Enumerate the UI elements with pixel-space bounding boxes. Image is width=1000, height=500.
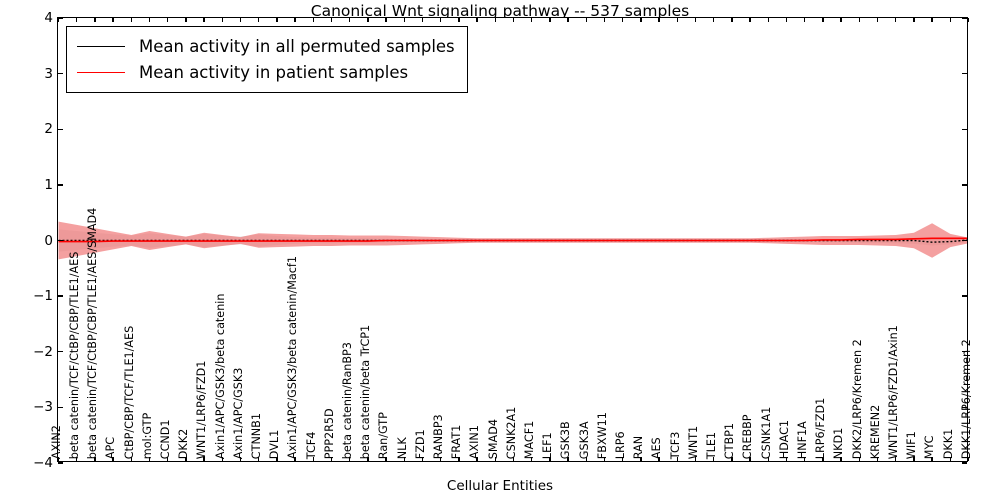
- x-tick-mark: [458, 457, 459, 461]
- legend-label: Mean activity in all permuted samples: [139, 37, 455, 56]
- x-tick-mark: [804, 18, 805, 22]
- y-tick-mark: [58, 462, 63, 463]
- x-tick-mark: [549, 18, 550, 22]
- x-tick-mark: [931, 457, 932, 461]
- chart-legend: Mean activity in all permuted samples Me…: [66, 26, 468, 93]
- x-tick-mark: [203, 457, 204, 461]
- y-tick-mark: [58, 351, 63, 352]
- x-tick-mark: [440, 457, 441, 461]
- y-tick-label: 0: [44, 233, 53, 249]
- legend-label: Mean activity in patient samples: [139, 63, 408, 82]
- y-tick-label: −3: [33, 399, 53, 415]
- x-tick-mark: [404, 18, 405, 22]
- x-axis-label: Cellular Entities: [0, 478, 1000, 494]
- x-tick-mark: [149, 18, 150, 22]
- y-tick-mark: [58, 184, 63, 185]
- x-tick-mark: [167, 18, 168, 22]
- x-tick-mark: [167, 457, 168, 461]
- y-tick-mark: [58, 295, 63, 296]
- x-tick-mark: [131, 457, 132, 461]
- y-tick-label: 4: [44, 10, 53, 26]
- x-tick-mark: [222, 457, 223, 461]
- x-tick-mark: [258, 457, 259, 461]
- y-tick-mark: [58, 73, 63, 74]
- x-tick-mark: [913, 457, 914, 461]
- x-tick-mark: [695, 18, 696, 22]
- x-tick-mark: [877, 18, 878, 22]
- y-tick-label: −1: [33, 288, 53, 304]
- x-tick-mark: [331, 457, 332, 461]
- x-tick-mark: [768, 18, 769, 22]
- x-tick-mark: [58, 18, 59, 22]
- x-tick-mark: [822, 457, 823, 461]
- x-tick-mark: [622, 457, 623, 461]
- x-tick-mark: [950, 457, 951, 461]
- x-tick-mark: [294, 457, 295, 461]
- x-tick-mark: [786, 18, 787, 22]
- x-tick-mark: [440, 18, 441, 22]
- x-tick-mark: [677, 18, 678, 22]
- x-tick-mark: [476, 457, 477, 461]
- legend-item: Mean activity in patient samples: [77, 59, 455, 85]
- x-tick-mark: [367, 457, 368, 461]
- x-tick-mark: [531, 18, 532, 22]
- x-tick-mark: [294, 18, 295, 22]
- x-tick-mark: [112, 18, 113, 22]
- x-tick-mark: [531, 457, 532, 461]
- x-tick-mark: [367, 18, 368, 22]
- x-tick-mark: [495, 18, 496, 22]
- x-tick-mark: [513, 457, 514, 461]
- x-tick-mark: [968, 457, 969, 461]
- x-tick-mark: [185, 18, 186, 22]
- x-tick-mark: [404, 457, 405, 461]
- x-tick-mark: [549, 457, 550, 461]
- x-tick-mark: [895, 18, 896, 22]
- x-tick-mark: [76, 18, 77, 22]
- x-tick-mark: [859, 457, 860, 461]
- x-tick-mark: [640, 18, 641, 22]
- x-tick-mark: [476, 18, 477, 22]
- x-tick-mark: [567, 18, 568, 22]
- x-tick-mark: [313, 18, 314, 22]
- x-tick-mark: [240, 457, 241, 461]
- x-tick-mark: [513, 18, 514, 22]
- x-tick-mark: [604, 18, 605, 22]
- x-tick-mark: [968, 18, 969, 22]
- x-tick-mark: [313, 457, 314, 461]
- x-tick-mark: [786, 457, 787, 461]
- x-tick-mark: [913, 18, 914, 22]
- x-tick-mark: [131, 18, 132, 22]
- x-tick-mark: [677, 457, 678, 461]
- y-tick-label: 2: [44, 121, 53, 137]
- x-tick-mark: [349, 18, 350, 22]
- y-tick-mark: [962, 295, 967, 296]
- y-tick-mark: [58, 240, 63, 241]
- x-tick-mark: [604, 457, 605, 461]
- y-tick-mark: [58, 129, 63, 130]
- y-tick-mark: [962, 129, 967, 130]
- x-tick-mark: [58, 457, 59, 461]
- x-tick-mark: [713, 457, 714, 461]
- x-tick-mark: [240, 18, 241, 22]
- y-tick-mark: [962, 17, 967, 18]
- x-tick-mark: [731, 18, 732, 22]
- x-tick-mark: [203, 18, 204, 22]
- legend-item: Mean activity in all permuted samples: [77, 33, 455, 59]
- x-tick-mark: [695, 457, 696, 461]
- legend-swatch-line-black: [77, 46, 125, 47]
- x-tick-mark: [586, 18, 587, 22]
- x-tick-mark: [768, 457, 769, 461]
- x-tick-mark: [877, 457, 878, 461]
- x-tick-mark: [895, 457, 896, 461]
- x-tick-mark: [94, 457, 95, 461]
- x-tick-mark: [804, 457, 805, 461]
- x-tick-mark: [94, 18, 95, 22]
- y-tick-mark: [962, 407, 967, 408]
- x-tick-mark: [749, 457, 750, 461]
- y-tick-label: 1: [44, 177, 53, 193]
- x-tick-mark: [859, 18, 860, 22]
- chart-root: Canonical Wnt signaling pathway -- 537 s…: [0, 0, 1000, 500]
- y-tick-mark: [962, 462, 967, 463]
- x-tick-mark: [840, 18, 841, 22]
- y-tick-mark: [962, 184, 967, 185]
- x-tick-mark: [349, 457, 350, 461]
- x-tick-mark: [749, 18, 750, 22]
- x-tick-mark: [458, 18, 459, 22]
- x-tick-mark: [331, 18, 332, 22]
- x-tick-mark: [276, 457, 277, 461]
- x-tick-mark: [567, 457, 568, 461]
- x-tick-mark: [950, 18, 951, 22]
- x-tick-mark: [385, 457, 386, 461]
- x-tick-mark: [713, 18, 714, 22]
- x-tick-mark: [112, 457, 113, 461]
- x-tick-mark: [422, 457, 423, 461]
- x-tick-mark: [731, 457, 732, 461]
- y-tick-label: −4: [33, 455, 53, 471]
- x-tick-mark: [385, 18, 386, 22]
- x-tick-mark: [822, 18, 823, 22]
- y-tick-mark: [962, 240, 967, 241]
- y-tick-mark: [58, 407, 63, 408]
- x-tick-mark: [422, 18, 423, 22]
- x-tick-mark: [586, 457, 587, 461]
- y-tick-mark: [962, 73, 967, 74]
- x-tick-mark: [931, 18, 932, 22]
- x-tick-mark: [840, 457, 841, 461]
- x-tick-mark: [185, 457, 186, 461]
- x-tick-mark: [622, 18, 623, 22]
- y-tick-mark: [962, 351, 967, 352]
- x-tick-mark: [495, 457, 496, 461]
- x-tick-mark: [258, 18, 259, 22]
- x-tick-mark: [149, 457, 150, 461]
- x-tick-mark: [276, 18, 277, 22]
- y-tick-label: 3: [44, 66, 53, 82]
- x-tick-mark: [640, 457, 641, 461]
- x-tick-mark: [222, 18, 223, 22]
- x-tick-mark: [658, 457, 659, 461]
- legend-swatch-line-red: [77, 72, 125, 73]
- x-tick-mark: [658, 18, 659, 22]
- x-tick-mark: [76, 457, 77, 461]
- y-tick-label: −2: [33, 344, 53, 360]
